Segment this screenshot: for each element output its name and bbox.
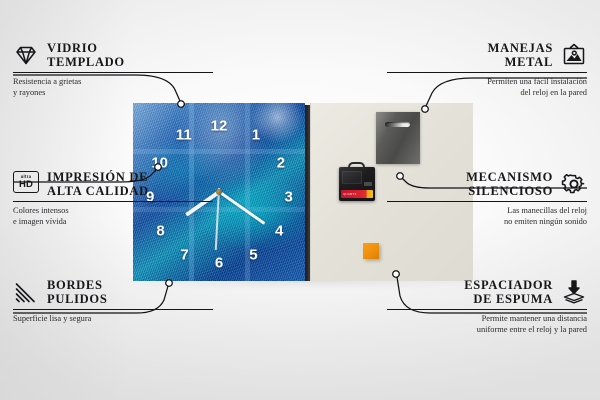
foam-spacer bbox=[363, 243, 379, 259]
callout-description: Colores intensos e imagen vívida bbox=[13, 206, 213, 227]
callout-header: ultra HD IMPRESIÓN DE ALTA CALIDAD bbox=[13, 170, 213, 198]
product-infographic: 12 1 2 3 4 5 6 7 8 9 10 11 bbox=[0, 0, 600, 400]
callout-title: ESPACIADOR DE ESPUMA bbox=[464, 278, 553, 306]
clock-numeral-4: 4 bbox=[275, 224, 283, 239]
callout-header: ESPACIADOR DE ESPUMA bbox=[387, 278, 587, 306]
clock-numeral-1: 1 bbox=[252, 128, 260, 143]
picture-frame-hanger-icon bbox=[561, 42, 587, 68]
callout-title: VIDRIO TEMPLADO bbox=[47, 41, 125, 69]
metal-hanger-plate bbox=[376, 112, 420, 164]
callout-description: Las manecillas del reloj no emiten ningú… bbox=[387, 206, 587, 227]
callout-vidrio-templado: VIDRIO TEMPLADO Resistencia a grietas y … bbox=[13, 41, 213, 98]
mechanism-shaft-detail bbox=[364, 182, 372, 186]
clock-numeral-3: 3 bbox=[284, 190, 292, 205]
callout-divider bbox=[387, 72, 587, 73]
callout-bordes-pulidos: BORDES PULIDOS Superficie lisa y segura bbox=[13, 278, 213, 325]
callout-description: Superficie lisa y segura bbox=[13, 314, 213, 325]
ultra-hd-large-text: HD bbox=[19, 180, 33, 190]
mechanism-label-text: QUARTZ bbox=[341, 190, 373, 198]
clock-numeral-5: 5 bbox=[249, 248, 257, 263]
callout-manejas-metal: MANEJAS METAL Permiten una fácil instala… bbox=[387, 41, 587, 98]
quartz-mechanism: QUARTZ bbox=[339, 162, 375, 201]
callout-description: Resistencia a grietas y rayones bbox=[13, 77, 213, 98]
callout-divider bbox=[13, 309, 213, 310]
callout-impresion-alta-calidad: ultra HD IMPRESIÓN DE ALTA CALIDAD Color… bbox=[13, 170, 213, 227]
callout-espaciador-de-espuma: ESPACIADOR DE ESPUMA Permite mantener un… bbox=[387, 278, 587, 335]
clock-numeral-10: 10 bbox=[151, 155, 168, 170]
diamond-icon bbox=[13, 42, 39, 68]
callout-divider bbox=[13, 201, 213, 202]
callout-description: Permiten una fácil instalación del reloj… bbox=[387, 77, 587, 98]
callout-title: MECANISMO SILENCIOSO bbox=[466, 170, 553, 198]
callout-title: BORDES PULIDOS bbox=[47, 278, 107, 306]
mechanism-body: QUARTZ bbox=[339, 167, 375, 201]
callout-header: BORDES PULIDOS bbox=[13, 278, 213, 306]
callout-description: Permite mantener una distancia uniforme … bbox=[387, 314, 587, 335]
gear-icon bbox=[561, 171, 587, 197]
mechanism-label: QUARTZ bbox=[341, 190, 373, 198]
callout-header: MECANISMO SILENCIOSO bbox=[387, 170, 587, 198]
clock-numeral-12: 12 bbox=[211, 119, 228, 134]
ultra-hd-box: ultra HD bbox=[13, 171, 39, 193]
callout-header: VIDRIO TEMPLADO bbox=[13, 41, 213, 69]
ultra-hd-icon: ultra HD bbox=[13, 171, 39, 197]
callout-title: IMPRESIÓN DE ALTA CALIDAD bbox=[47, 170, 149, 198]
callout-mecanismo-silencioso: MECANISMO SILENCIOSO Las manecillas del … bbox=[387, 170, 587, 227]
callout-divider bbox=[387, 309, 587, 310]
callout-title: MANEJAS METAL bbox=[488, 41, 553, 69]
clock-numeral-7: 7 bbox=[180, 248, 188, 263]
clock-numeral-6: 6 bbox=[215, 256, 223, 271]
callout-divider bbox=[387, 201, 587, 202]
callout-divider bbox=[13, 72, 213, 73]
arrow-down-layers-icon bbox=[561, 279, 587, 305]
clock-center-cap bbox=[216, 189, 222, 195]
callout-header: MANEJAS METAL bbox=[387, 41, 587, 69]
clock-numeral-11: 11 bbox=[176, 128, 192, 143]
hanger-slot bbox=[385, 122, 410, 127]
diagonal-stripes-icon bbox=[13, 279, 39, 305]
mechanism-panel-detail bbox=[342, 171, 362, 184]
clock-numeral-2: 2 bbox=[277, 155, 285, 170]
